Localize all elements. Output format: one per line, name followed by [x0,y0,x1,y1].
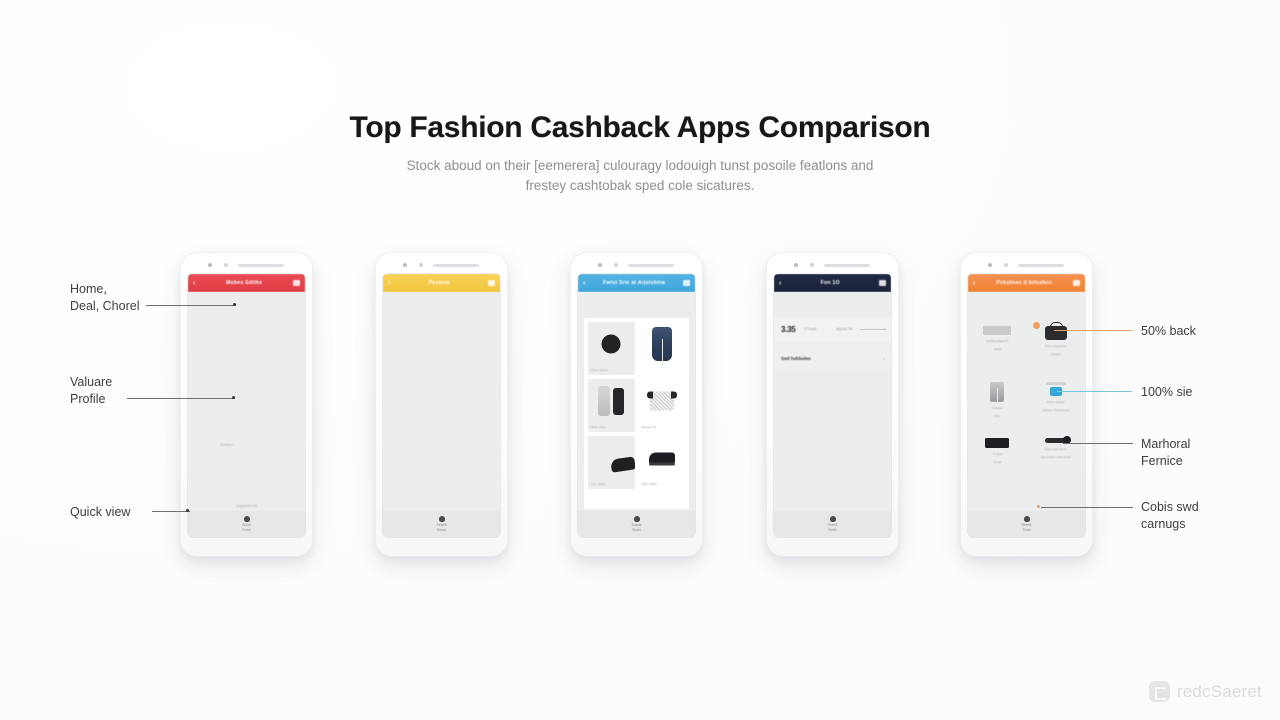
nav-icon [634,516,640,522]
page-title: Top Fashion Cashback Apps Comparison [0,112,1280,144]
flag-badge-icon [1149,681,1170,702]
camera-icon [208,263,212,267]
phone-rates-screen[interactable]: ‹ Fon 1O 3.35 Cl baoft Apprlse lat › Sed… [766,252,899,557]
leader-line [1041,507,1133,508]
wardrobe-item[interactable]: Tl kt Leoyonlthe Vooled [1027,318,1086,374]
item-caption-1: Teltque [992,406,1002,410]
shoe-icon [610,457,634,473]
poster-canvas: Top Fashion Cashback Apps Comparison Sto… [0,0,1280,720]
outfit-left [598,386,610,416]
screen-body: Cose Ishoes Brelf [578,292,695,537]
phone-notch [180,260,313,270]
wardrobe-item[interactable]: Otop t get Srleor Ruysnalen'i Vitn Baed [1027,430,1086,486]
pants-icon [990,382,1004,402]
disc-icon [602,335,621,354]
menu-icon[interactable] [1073,280,1080,286]
product-caption: Cloc Shde [591,482,605,486]
camera-icon [403,263,407,267]
screen-body: Dolber? Cuppetchi Kts Boudt Frank [188,292,305,537]
sensor-icon [614,263,618,267]
watermark: redcSaeret [1149,681,1262,702]
nav-label-2: Sbichi [632,528,641,532]
nav-label-1: Resellt [1022,523,1032,527]
phone-home-screen[interactable]: ‹ Mobes Sdithx Dolber? Cuppetchi Kts Bou… [180,252,313,557]
annotation-home-deal-chorel: Home, Deal, Chorel [70,281,139,314]
subtitle-line-2: frestey cashtobak sped cole sicatures. [0,176,1280,196]
item-caption-1: Otop t get Srleor [1044,447,1067,451]
sensor-icon [1004,263,1008,267]
phone-wardrobe-screen[interactable]: ‹ Pckshsec it brtsshce TenhkopddeoTit Ao… [960,252,1093,557]
item-caption-1: Relos Saplat [1047,400,1065,404]
annotation-quick-view: Quick view [70,504,130,521]
phone-screen[interactable]: ‹ Fwist Sric at Arjolshina Cose Ishoes [578,274,695,537]
annotation-cobis-swd-carnugs: Cobis swd carnugs [1141,499,1199,532]
wardrobe-row: Teltque ACtt Relos Saplat Spleros Otnock… [968,374,1085,430]
tee-icon [650,392,674,411]
product-card[interactable]: Wrosee Tit [639,379,686,432]
product-caption: Wrosee Tit [642,425,657,429]
speaker-grille [433,264,479,267]
list-item-row[interactable]: Sed hsbbaleo › [774,348,891,370]
wardrobe-row: TenhkopddeoTit Aoblt Tl kt Leoyonlthe Vo… [968,318,1085,374]
bottom-nav[interactable]: Resellt Tlurta [968,511,1085,537]
screen-body: 3.35 Cl baoft Apprlse lat › Sed hsbbaleo… [774,292,891,537]
app-bar-title: Pesmoa [394,280,484,286]
item-caption-2: Aoblt [994,347,1001,351]
product-card[interactable] [639,322,686,375]
leader-line-teal [1057,391,1132,392]
bottom-nav[interactable]: Boudt Frank [188,511,305,537]
app-bar: ‹ Mobes Sdithx [188,274,305,292]
app-bar-title: Fon 1O [785,280,875,286]
nav-icon [244,516,250,522]
product-card[interactable]: Cose Ishoes [588,322,635,375]
camera-icon [988,263,992,267]
jeans-icon [652,327,672,361]
wardrobe-item[interactable]: Relos Saplat Spleros Otnocksoul [1027,374,1086,430]
footer-note: Cuppetchi Kts [188,504,305,508]
nav-icon [830,516,836,522]
nav-label-2: Starch [437,528,446,532]
outfit-icon [598,386,624,416]
phone-notch [570,260,703,270]
speaker-grille [238,264,284,267]
sensor-icon [810,263,814,267]
wardrobe-list[interactable]: TenhkopddeoTit Aoblt Tl kt Leoyonlthe Vo… [968,318,1085,509]
leader-line [127,398,235,399]
product-card[interactable]: Nlgnt 0009 [639,436,686,489]
app-bar-title: Fwist Sric at Arjolshina [589,280,679,286]
product-caption: Brelf usnd [591,425,605,429]
product-grid[interactable]: Cose Ishoes Brelf [584,318,689,509]
back-icon[interactable]: ‹ [973,280,975,287]
nav-label-1: Resellt [437,523,447,527]
subtitle-line-1: Stock aboud on their [eemerera] culourag… [0,156,1280,176]
back-icon[interactable]: ‹ [779,280,781,287]
app-bar-title: Mobes Sdithx [199,280,289,286]
nav-label-1: Bussat [632,523,642,527]
divider-line [1046,382,1066,385]
outfit-right [613,388,624,415]
nav-label-1: Resellt [828,523,838,527]
annotation-hundred-percent-sie: 100% sie [1141,384,1192,401]
phone-catalog-screen[interactable]: ‹ Fwist Sric at Arjolshina Cose Ishoes [570,252,703,557]
grid-row: Cose Ishoes [588,322,685,375]
camera-icon [598,263,602,267]
nav-icon [1024,516,1030,522]
camera-icon [794,263,798,267]
nav-label-2: Frank [242,528,250,532]
phone-offers-screen[interactable]: ‹ Pesmoa Resellt Starch [375,252,508,557]
annotation-marhoral-fernice: Marhoral Fernice [1141,436,1190,469]
dark-clutch-icon [985,438,1009,448]
chevron-right-icon[interactable]: › [884,326,885,331]
wardrobe-item[interactable]: Tl ylme Crotie [968,430,1027,486]
phone-screen[interactable]: ‹ Pckshsec it brtsshce TenhkopddeoTit Ao… [968,274,1085,537]
item-caption-1: Tl ylme [992,452,1002,456]
rate-label: Apprlse lat [836,327,852,331]
item-caption-2: Crotie [993,460,1001,464]
bottom-nav[interactable]: Resellt Starch [383,511,500,537]
signal-icon[interactable] [879,280,886,286]
menu-icon[interactable] [293,280,300,286]
product-card[interactable]: Brelf usnd [588,379,635,432]
product-caption: Cose Ishoes [591,368,608,372]
rate-row[interactable]: 3.35 Cl baoft Apprlse lat › [774,318,891,342]
nav-label-2: Sbichi [828,528,837,532]
page-subtitle: Stock aboud on their [eemerera] culourag… [0,156,1280,197]
screen-body: Resellt Starch [383,292,500,537]
sensor-icon [224,263,228,267]
leader-line [1063,443,1133,444]
menu-icon[interactable] [683,280,690,286]
rate-sub: Cl baoft [804,327,816,331]
phone-screen[interactable]: ‹ Pesmoa Resellt Starch [383,274,500,537]
grid-row: Brelf usnd Wrosee Tit [588,379,685,432]
leader-line-orange [1054,330,1132,331]
list-item-label: Sed hsbbaleo [781,356,811,361]
watermark-text: redcSaeret [1177,682,1262,702]
bottom-nav[interactable]: Resellt Sbichi [774,511,891,537]
header: Top Fashion Cashback Apps Comparison Sto… [0,112,1280,196]
item-caption-1: Tl kt Leoyonlthe [1045,344,1067,348]
back-icon[interactable]: ‹ [583,280,585,287]
leader-line [152,511,190,512]
item-caption-2: Ruysnalen'i Vitn Baed [1041,455,1071,459]
screen-body: TenhkopddeoTit Aoblt Tl kt Leoyonlthe Vo… [968,292,1085,537]
rate-value: 3.35 [781,325,795,334]
product-card[interactable]: Cloc Shde [588,436,635,489]
sneaker-icon [649,453,675,464]
phone-screen[interactable]: ‹ Mobes Sdithx Dolber? Cuppetchi Kts Bou… [188,274,305,537]
item-caption-1: TenhkopddeoTit [986,339,1008,343]
annotation-valuare-profile: Valuare Profile [70,374,112,407]
sensor-icon [419,263,423,267]
phone-screen[interactable]: ‹ Fon 1O 3.35 Cl baoft Apprlse lat › Sed… [774,274,891,537]
phone-notch [960,260,1093,270]
item-caption-2: ACtt [994,414,1000,418]
nav-label-2: Tlurta [1022,528,1030,532]
rate-divider [860,329,886,330]
app-bar-title: Pckshsec it brtsshce [979,280,1069,286]
nav-label-1: Boudt [242,523,250,527]
content-note: Dolber? [220,442,234,447]
menu-icon[interactable] [488,280,495,286]
highlight-dot [1033,322,1040,329]
item-caption-2: Vooled [1051,352,1060,356]
nav-icon [439,516,445,522]
speaker-grille [628,264,674,267]
leader-line [146,305,236,306]
back-icon[interactable]: ‹ [193,280,195,287]
product-caption: Nlgnt 0009 [642,482,657,486]
app-bar: ‹ Fwist Sric at Arjolshina [578,274,695,292]
app-bar: ‹ Pesmoa [383,274,500,292]
grid-row: Cloc Shde Nlgnt 0009 [588,436,685,489]
wardrobe-item[interactable]: Teltque ACtt [968,374,1027,430]
gray-swatch-icon [983,326,1011,335]
chevron-right-icon[interactable]: › [884,356,885,361]
item-caption-2: Spleros Otnocksoul [1042,408,1069,412]
app-bar: ‹ Pckshsec it brtsshce [968,274,1085,292]
phone-notch [375,260,508,270]
back-icon[interactable]: ‹ [388,280,390,287]
phone-notch [766,260,899,270]
speaker-grille [1018,264,1064,267]
dark-bag-icon [1045,326,1067,340]
bottom-nav[interactable]: Bussat Sbichi [578,511,695,537]
speaker-grille [824,264,870,267]
wardrobe-item[interactable]: TenhkopddeoTit Aoblt [968,318,1027,374]
app-bar: ‹ Fon 1O [774,274,891,292]
wardrobe-row: Tl ylme Crotie Otop t get Srleor Ruysnal… [968,430,1085,486]
annotation-fifty-percent-back: 50% back [1141,323,1196,340]
